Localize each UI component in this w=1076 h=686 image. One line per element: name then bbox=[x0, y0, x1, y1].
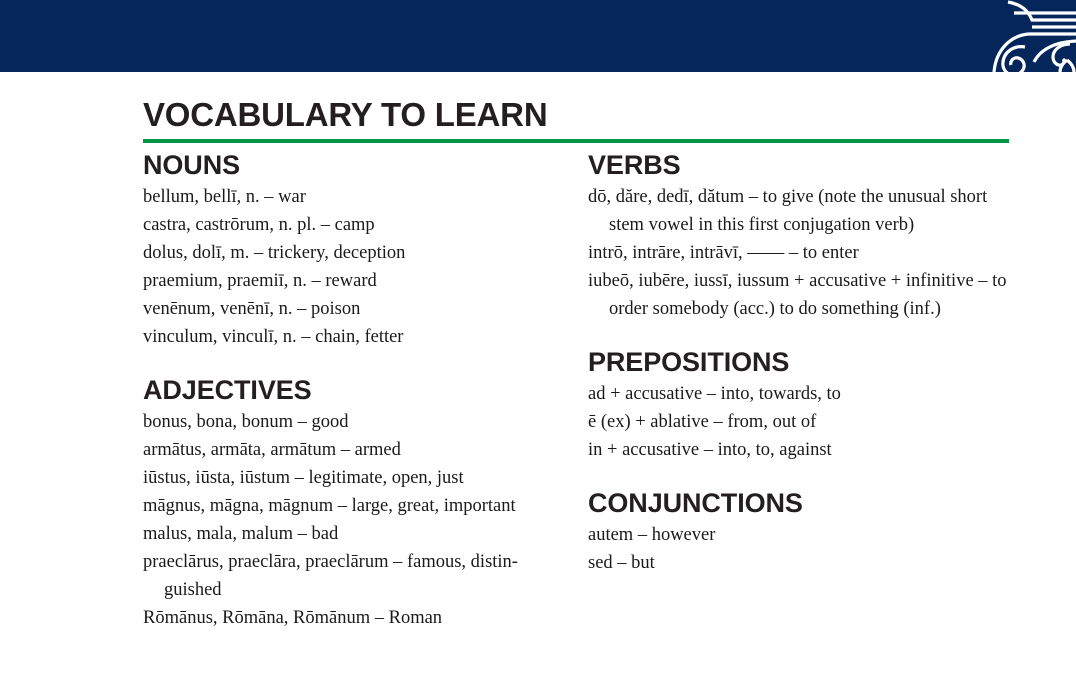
two-column-layout: NOUNS bellum, bellī, n. – war castra, ca… bbox=[143, 150, 1009, 632]
vocabulary-entry: armātus, armāta, armātum – armed bbox=[143, 436, 546, 464]
entry-list-nouns: bellum, bellī, n. – war castra, castrōru… bbox=[143, 183, 546, 351]
vocabulary-entry: Rōmānus, Rōmāna, Rōmānum – Roman bbox=[143, 604, 546, 632]
section-prepositions: PREPOSITIONS ad + accusative – into, tow… bbox=[588, 347, 1009, 464]
entry-list-verbs: dō, dăre, dedī, dătum – to give (note th… bbox=[588, 183, 1009, 323]
vocabulary-entry: autem – however bbox=[588, 521, 1009, 549]
vocabulary-entry: ad + accusative – into, towards, to bbox=[588, 380, 1009, 408]
section-nouns: NOUNS bellum, bellī, n. – war castra, ca… bbox=[143, 150, 546, 351]
page-title: VOCABULARY TO LEARN bbox=[143, 96, 1009, 134]
vocabulary-entry: dolus, dolī, m. – trickery, deception bbox=[143, 239, 546, 267]
vocabulary-entry: iūstus, iūsta, iūstum – legitimate, open… bbox=[143, 464, 546, 492]
vocabulary-entry: praemium, praemiī, n. – reward bbox=[143, 267, 546, 295]
entry-list-adjectives: bonus, bona, bonum – good armātus, armāt… bbox=[143, 408, 546, 632]
vocabulary-entry: sed – but bbox=[588, 549, 1009, 577]
ionic-column-capital-icon bbox=[984, 0, 1076, 72]
vocabulary-entry: in + accusative – into, to, against bbox=[588, 436, 1009, 464]
vocabulary-entry: bonus, bona, bonum – good bbox=[143, 408, 546, 436]
vocabulary-entry: māgnus, māgna, māgnum – large, great, im… bbox=[143, 492, 546, 520]
left-column: NOUNS bellum, bellī, n. – war castra, ca… bbox=[143, 150, 546, 632]
title-underline-rule bbox=[143, 139, 1009, 143]
section-heading-adjectives: ADJECTIVES bbox=[143, 375, 546, 406]
section-heading-prepositions: PREPOSITIONS bbox=[588, 347, 1009, 378]
vocabulary-page: VOCABULARY TO LEARN NOUNS bellum, bellī,… bbox=[143, 96, 1009, 632]
vocabulary-entry: dō, dăre, dedī, dătum – to give (note th… bbox=[588, 183, 1009, 239]
section-adjectives: ADJECTIVES bonus, bona, bonum – good arm… bbox=[143, 375, 546, 632]
vocabulary-entry: castra, castrōrum, n. pl. – camp bbox=[143, 211, 546, 239]
vocabulary-entry: intrō, intrāre, intrāvī, —— – to enter bbox=[588, 239, 1009, 267]
vocabulary-entry: vinculum, vinculī, n. – chain, fetter bbox=[143, 323, 546, 351]
section-heading-nouns: NOUNS bbox=[143, 150, 546, 181]
right-column: VERBS dō, dăre, dedī, dătum – to give (n… bbox=[588, 150, 1009, 577]
vocabulary-entry: ē (ex) + ablative – from, out of bbox=[588, 408, 1009, 436]
vocabulary-entry: praeclārus, praeclāra, praeclārum – famo… bbox=[143, 548, 546, 604]
top-banner bbox=[0, 0, 1076, 72]
section-conjunctions: CONJUNCTIONS autem – however sed – but bbox=[588, 488, 1009, 577]
section-heading-verbs: VERBS bbox=[588, 150, 1009, 181]
entry-list-prepositions: ad + accusative – into, towards, to ē (e… bbox=[588, 380, 1009, 464]
vocabulary-entry: iubeō, iubēre, iussī, iussum + accusativ… bbox=[588, 267, 1009, 323]
section-verbs: VERBS dō, dăre, dedī, dătum – to give (n… bbox=[588, 150, 1009, 323]
vocabulary-entry: bellum, bellī, n. – war bbox=[143, 183, 546, 211]
section-heading-conjunctions: CONJUNCTIONS bbox=[588, 488, 1009, 519]
vocabulary-entry: malus, mala, malum – bad bbox=[143, 520, 546, 548]
entry-list-conjunctions: autem – however sed – but bbox=[588, 521, 1009, 577]
vocabulary-entry: venēnum, venēnī, n. – poison bbox=[143, 295, 546, 323]
